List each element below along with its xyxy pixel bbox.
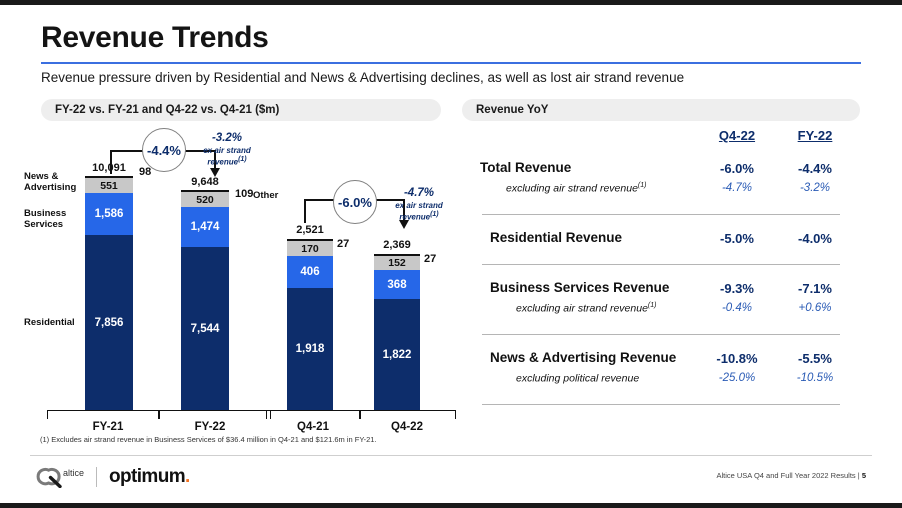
bar-q422-seg-business-services: 368 bbox=[374, 270, 420, 299]
series-label-other: Other bbox=[253, 190, 278, 201]
row-value-business-services-revenue-fy: -7.1% bbox=[780, 281, 850, 296]
row-value-news-advertising-revenue-fy: -5.5% bbox=[780, 351, 850, 366]
logo-separator bbox=[96, 467, 97, 487]
column-header-fy-22: FY-22 bbox=[780, 128, 850, 143]
q422-total-label: 2,369 bbox=[368, 239, 426, 251]
fy-ex-air-strand-callout: -3.2% ex air strand revenue(1) bbox=[186, 128, 268, 167]
fy22-other-label: 109 bbox=[235, 188, 253, 200]
row-sublabel-news-advertising-revenue: excluding political revenue bbox=[516, 372, 639, 385]
fy-connector-left-top bbox=[110, 150, 143, 152]
table-divider bbox=[482, 264, 840, 265]
axis-label-fy22: FY-22 bbox=[160, 421, 260, 433]
row-subvalue-total-revenue-q4: -4.7% bbox=[702, 182, 772, 194]
bottom-border bbox=[0, 503, 902, 508]
bar-fy22-seg-business-services: 1,474 bbox=[181, 207, 229, 247]
page-footer-text: Altice USA Q4 and Full Year 2022 Results bbox=[716, 471, 855, 480]
row-label-business-services-revenue: Business Services Revenue bbox=[490, 280, 669, 295]
q4-ex-air-strand-callout: -4.7% ex air strand revenue(1) bbox=[378, 183, 460, 222]
row-value-total-revenue-q4: -6.0% bbox=[702, 161, 772, 176]
page-footer-separator: | bbox=[858, 471, 860, 480]
series-label-news-advertising: News & Advertising bbox=[24, 171, 76, 193]
bar-fy21-seg-business-services: 1,586 bbox=[85, 193, 133, 235]
fy-ex-air-pct: -3.2% bbox=[212, 132, 242, 144]
row-sublabel-total-revenue: excluding air strand revenue(1) bbox=[506, 182, 646, 195]
right-panel-header-label: Revenue YoY bbox=[462, 104, 548, 116]
series-label-residential: Residential bbox=[24, 317, 75, 328]
revenue-bar-chart: News & Advertising Business Services Res… bbox=[0, 0, 460, 450]
fy22-total-label: 9,648 bbox=[175, 176, 235, 188]
row-subvalue-news-advertising-revenue-fy: -10.5% bbox=[780, 372, 850, 384]
row-value-news-advertising-revenue-q4: -10.8% bbox=[702, 351, 772, 366]
row-subvalue-news-advertising-revenue-q4: -25.0% bbox=[702, 372, 772, 384]
footer-divider bbox=[30, 455, 872, 456]
row-label-total-revenue: Total Revenue bbox=[480, 160, 571, 175]
table-header-row: Q4-22 FY-22 bbox=[462, 126, 860, 150]
q422-other-label: 27 bbox=[424, 253, 436, 265]
page-number: 5 bbox=[862, 471, 866, 480]
row-value-total-revenue-fy: -4.4% bbox=[780, 161, 850, 176]
q421-other-label: 27 bbox=[337, 238, 349, 250]
bar-fy22-seg-residential: 7,544 bbox=[181, 247, 229, 410]
chart-footnote: (1) Excludes air strand revenue in Busin… bbox=[40, 435, 377, 444]
optimum-wordmark: optimum. bbox=[109, 466, 190, 488]
right-panel-header: Revenue YoY bbox=[462, 99, 860, 121]
row-value-business-services-revenue-q4: -9.3% bbox=[702, 281, 772, 296]
row-value-residential-revenue-fy: -4.0% bbox=[780, 231, 850, 246]
row-label-residential-revenue: Residential Revenue bbox=[490, 230, 622, 245]
series-label-business-services: Business Services bbox=[24, 208, 66, 230]
row-label-news-advertising-revenue: News & Advertising Revenue bbox=[490, 350, 676, 365]
bar-q421-seg-news-advertising: 170 bbox=[287, 241, 333, 256]
q421-total-label: 2,521 bbox=[281, 224, 339, 236]
bar-q422-seg-news-advertising: 152 bbox=[374, 256, 420, 270]
row-subvalue-total-revenue-fy: -3.2% bbox=[780, 182, 850, 194]
row-value-residential-revenue-q4: -5.0% bbox=[702, 231, 772, 246]
q4-axis-bracket bbox=[266, 410, 456, 419]
q4-axis-tick bbox=[359, 410, 361, 419]
q4-connector-left-arm bbox=[304, 199, 306, 223]
bar-fy21-seg-residential: 7,856 bbox=[85, 235, 133, 410]
q4-change-badge: -6.0% bbox=[333, 180, 377, 224]
fy-ex-air-note: ex air strand revenue(1) bbox=[186, 146, 268, 167]
row-subvalue-business-services-revenue-fy: +0.6% bbox=[780, 302, 850, 314]
q4-connector-left-top bbox=[304, 199, 334, 201]
table-divider bbox=[482, 404, 840, 405]
bar-q422-seg-residential: 1,822 bbox=[374, 299, 420, 410]
table-divider bbox=[482, 214, 840, 215]
slide: Revenue Trends Revenue pressure driven b… bbox=[0, 0, 902, 508]
row-subvalue-business-services-revenue-q4: -0.4% bbox=[702, 302, 772, 314]
bar-fy21-seg-news-advertising: 551 bbox=[85, 178, 133, 193]
bar-q421-seg-residential: 1,918 bbox=[287, 288, 333, 410]
axis-label-q421: Q4-21 bbox=[266, 421, 360, 433]
q4-ex-air-note: ex air strand revenue(1) bbox=[378, 201, 460, 222]
fy21-total-label: 10,091 bbox=[79, 162, 139, 174]
page-footer: Altice USA Q4 and Full Year 2022 Results… bbox=[716, 471, 866, 480]
table-divider bbox=[482, 334, 840, 335]
q4-ex-air-pct: -4.7% bbox=[404, 187, 434, 199]
fy21-other-label: 98 bbox=[139, 166, 151, 178]
bar-q421-seg-business-services: 406 bbox=[287, 256, 333, 288]
brand-logo: altice optimum. bbox=[36, 465, 190, 489]
altice-wordmark: altice bbox=[63, 468, 84, 478]
axis-label-fy21: FY-21 bbox=[58, 421, 158, 433]
axis-label-q422: Q4-22 bbox=[360, 421, 454, 433]
altice-logo-icon bbox=[36, 466, 62, 488]
bar-fy22-seg-news-advertising: 520 bbox=[181, 192, 229, 207]
fy-axis-tick bbox=[158, 410, 160, 419]
row-sublabel-business-services-revenue: excluding air strand revenue(1) bbox=[516, 302, 656, 315]
column-header-q4-22: Q4-22 bbox=[702, 128, 772, 143]
